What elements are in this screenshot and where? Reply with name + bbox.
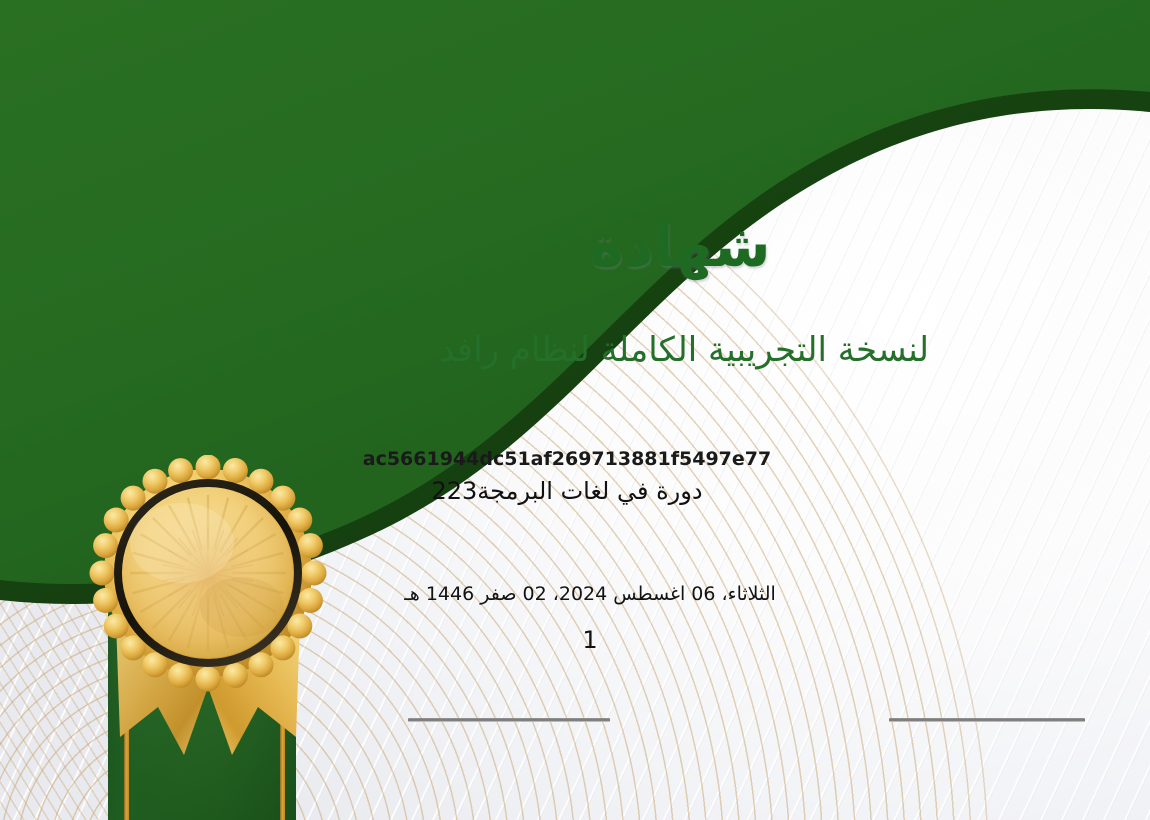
certificate-subtitle: لنسخة التجريبية الكاملة لنظام رافد [334, 330, 1034, 370]
verification-code: ac5661944dc51af269713881f5497e77 [217, 448, 917, 470]
certificate-page: شهادة لنسخة التجريبية الكاملة لنظام رافد… [0, 0, 1150, 820]
certificate-title: شهادة [330, 212, 1030, 280]
serial-number: 1 [240, 626, 940, 654]
signature-line-left [408, 718, 610, 722]
course-name: دورة في لغات البرمجة223 [217, 477, 917, 505]
signature-line-right [889, 718, 1085, 722]
issue-date: الثلاثاء، 06 اغسطس 2024، 02 صفر 1446 هـ [240, 583, 940, 605]
